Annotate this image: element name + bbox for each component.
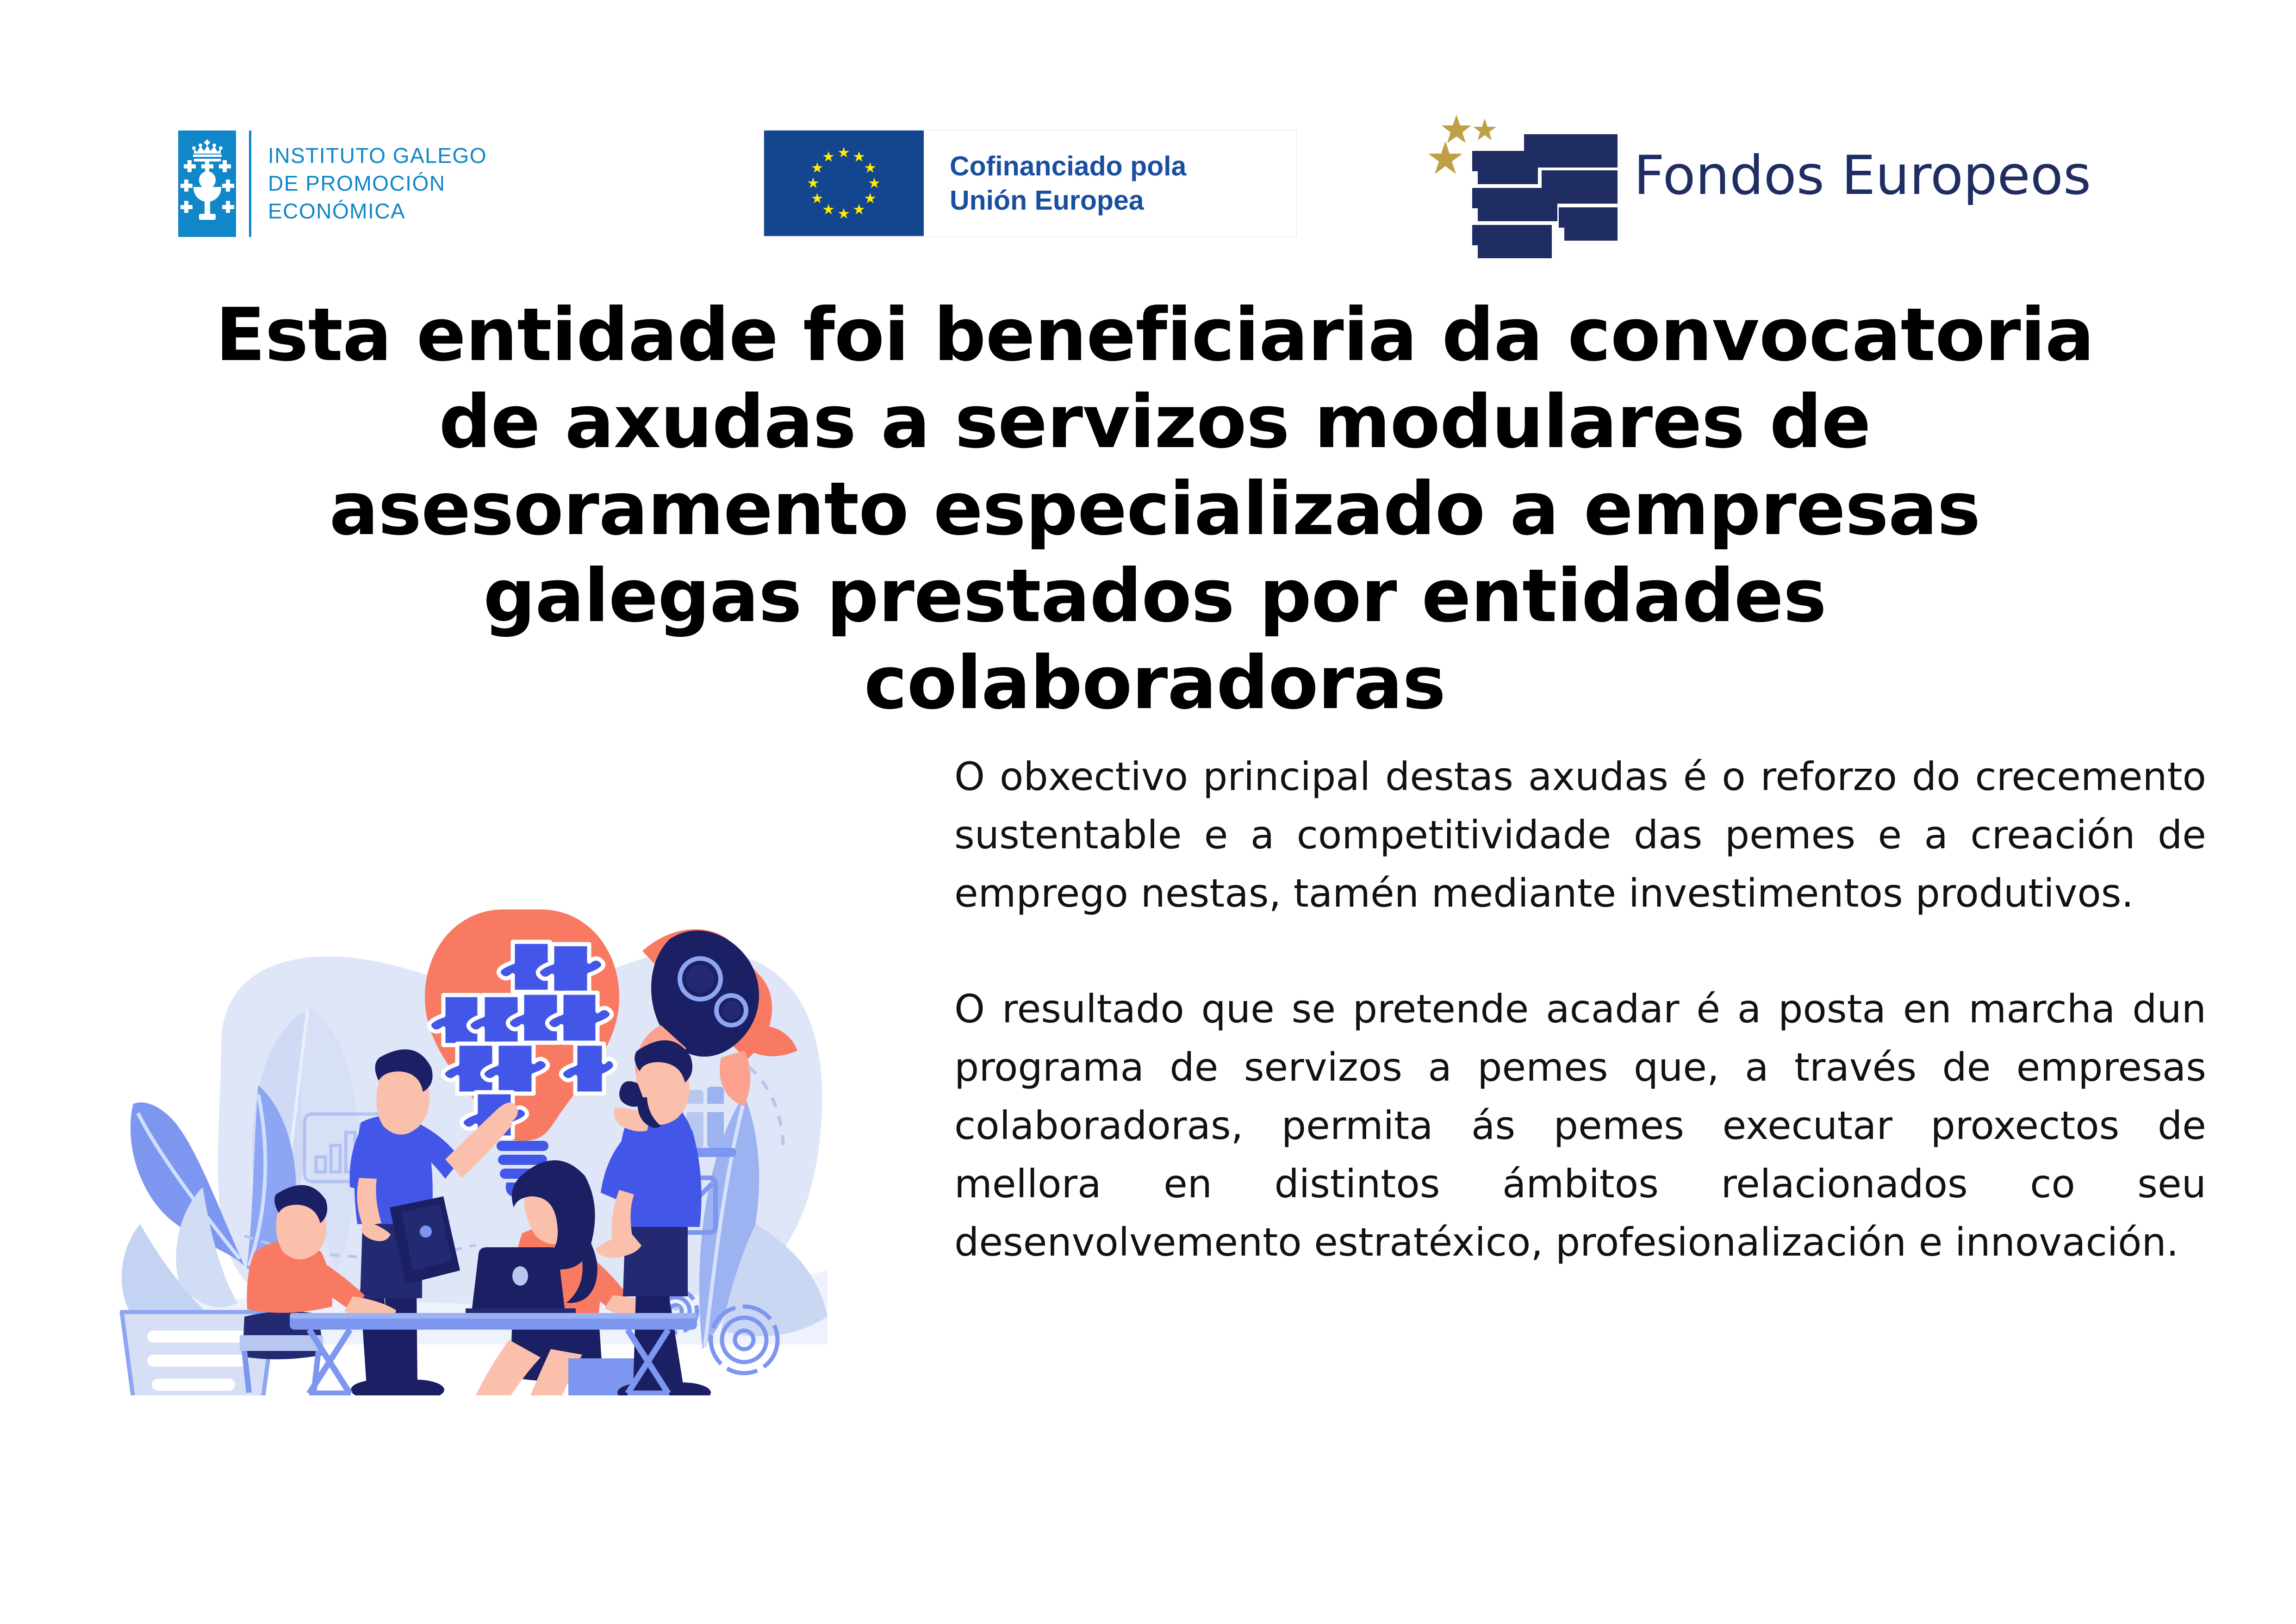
igape-logo: INSTITUTO GALEGO DE PROMOCIÓN ECONÓMICA: [178, 131, 487, 237]
eu-star-icon: ★: [867, 176, 881, 190]
fondos-europeos-mark-icon: [1423, 106, 1618, 259]
stepped-bars-icon: [1472, 134, 1618, 258]
chalice-icon: [193, 187, 221, 202]
igape-wordmark: INSTITUTO GALEGO DE PROMOCIÓN ECONÓMICA: [268, 131, 487, 237]
logo-divider: [249, 131, 251, 237]
eu-cofinance-logo: ★★★★★★★★★★★★ Cofinanciado pola Unión Eur…: [764, 130, 1297, 237]
paragraph-objective: O obxectivo principal destas axudas é o …: [954, 747, 2206, 922]
eu-star-icon: ★: [810, 192, 824, 205]
igape-line-1: INSTITUTO GALEGO: [268, 142, 487, 170]
eu-star-icon: ★: [806, 176, 820, 190]
galicia-coat-of-arms-icon: [178, 131, 236, 237]
logo-bar: INSTITUTO GALEGO DE PROMOCIÓN ECONÓMICA …: [0, 97, 2296, 264]
eu-wordmark: Cofinanciado pola Unión Europea: [950, 149, 1186, 218]
igape-line-3: ECONÓMICA: [268, 198, 487, 225]
crown-icon: [191, 140, 224, 162]
page-title: Esta entidade foi beneficiaria da convoc…: [199, 292, 2110, 727]
poster-page: INSTITUTO GALEGO DE PROMOCIÓN ECONÓMICA …: [0, 0, 2296, 1624]
body-copy: O obxectivo principal destas axudas é o …: [954, 747, 2206, 1271]
eu-star-icon: ★: [852, 203, 866, 217]
eu-star-icon: ★: [837, 146, 851, 160]
eu-flag-icon: ★★★★★★★★★★★★: [764, 131, 924, 236]
eu-star-icon: ★: [821, 150, 835, 164]
team-brainstorming-illustration: [106, 826, 892, 1395]
eu-line-2: Unión Europea: [950, 183, 1186, 218]
fondos-europeos-logo: Fondos Europeos: [1423, 106, 2145, 259]
fondos-europeos-label: Fondos Europeos: [1634, 149, 2091, 203]
host-icon: [199, 171, 216, 189]
eu-line-1: Cofinanciado pola: [950, 149, 1186, 183]
eu-star-icon: ★: [837, 207, 851, 221]
eu-star-icon: ★: [863, 161, 877, 175]
paragraph-result: O resultado que se pretende acadar é a p…: [954, 980, 2206, 1271]
igape-line-2: DE PROMOCIÓN: [268, 170, 487, 198]
